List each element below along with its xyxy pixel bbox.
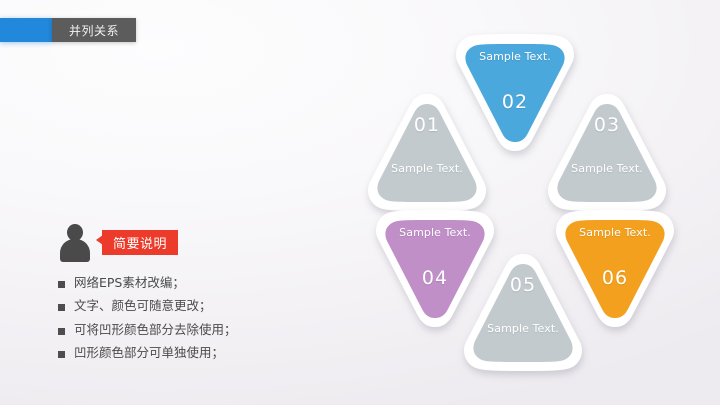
header-tab-label: 并列关系 <box>69 22 119 39</box>
list-item: 文字、颜色可随意更改； <box>58 299 328 313</box>
summary-badge-label: 简要说明 <box>113 233 167 252</box>
list-item: 网络EPS素材改编； <box>58 276 328 290</box>
note-header: 简要说明 <box>58 220 328 264</box>
petal-03[interactable]: 03 Sample Text. <box>540 90 674 218</box>
summary-badge: 简要说明 <box>102 230 178 255</box>
petal-shape-03 <box>540 90 674 218</box>
list-item-text: 凹形颜色部分可单独使用； <box>74 346 224 360</box>
header-tab[interactable]: 并列关系 <box>52 18 136 42</box>
list-item: 凹形颜色部分可单独使用； <box>58 346 328 360</box>
description-panel: 简要说明 网络EPS素材改编； 文字、颜色可随意更改； 可将凹形颜色部分去除使用… <box>58 220 328 370</box>
list-item-text: 文字、颜色可随意更改； <box>74 299 212 313</box>
person-icon <box>58 222 92 262</box>
slide-canvas: 并列关系 简要说明 网络EPS素材改编； 文字、颜色可随意更改； <box>0 0 720 405</box>
square-bullet-icon <box>58 304 65 311</box>
person-icon-body <box>60 239 90 262</box>
list-item-text: 网络EPS素材改编； <box>74 276 185 290</box>
square-bullet-icon <box>58 351 65 358</box>
square-bullet-icon <box>58 281 65 288</box>
petal-shape-06 <box>548 206 682 334</box>
header-accent-block <box>0 18 52 42</box>
petal-diagram: 01 Sample Text. Sample Text. 02 <box>360 28 690 378</box>
list-item-text: 可将凹形颜色部分去除使用； <box>74 323 237 337</box>
square-bullet-icon <box>58 328 65 335</box>
list-item: 可将凹形颜色部分去除使用； <box>58 323 328 337</box>
bullet-list: 网络EPS素材改编； 文字、颜色可随意更改； 可将凹形颜色部分去除使用； 凹形颜… <box>58 276 328 361</box>
header-bar: 并列关系 <box>0 18 136 42</box>
petal-06[interactable]: Sample Text. 06 <box>548 206 682 334</box>
